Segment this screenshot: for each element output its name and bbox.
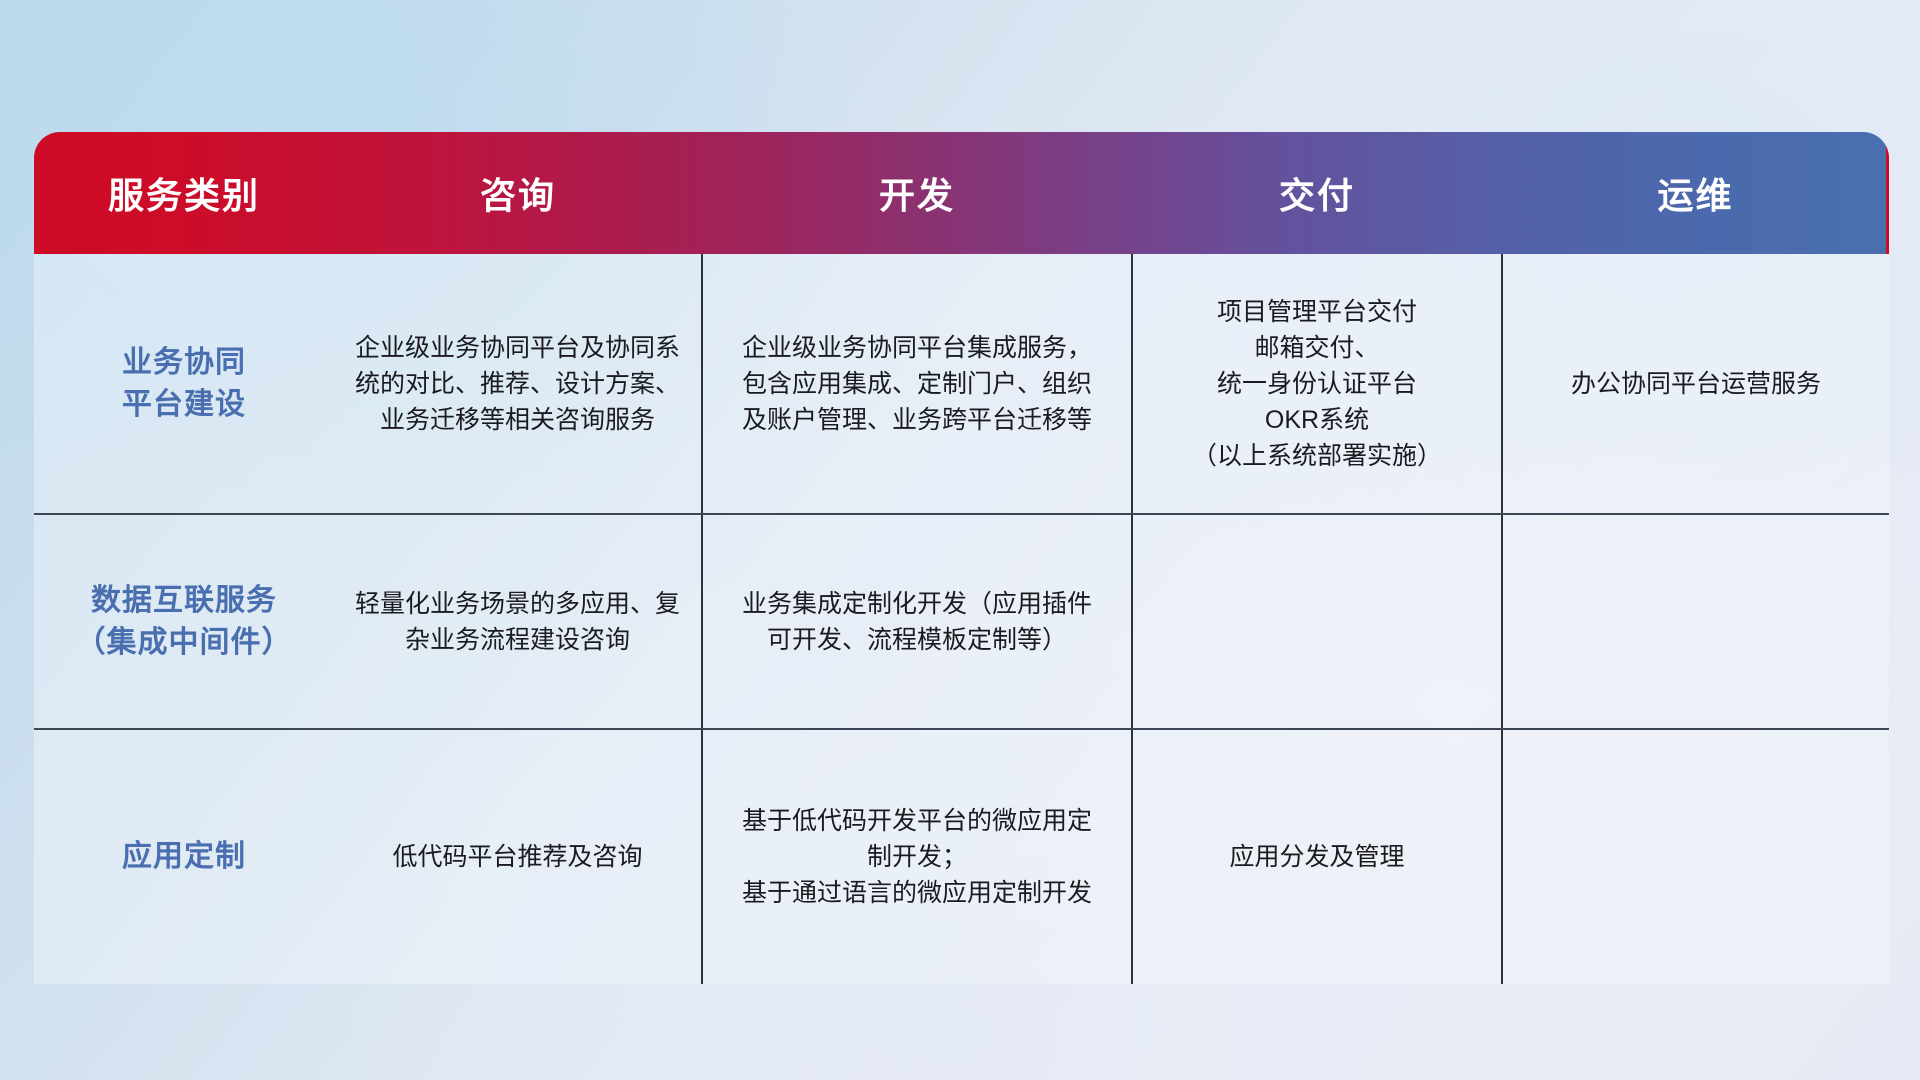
- cell-text: 轻量化业务场景的多应用、复 杂业务流程建设咨询: [350, 586, 685, 658]
- row-label-cell: 业务协同 平台建设: [34, 254, 334, 514]
- table-header: 服务类别 咨询 开发 交付 运维: [34, 132, 1889, 254]
- row-label-cell: 数据互联服务 （集成中间件）: [34, 514, 334, 729]
- cell-operations: [1502, 729, 1889, 984]
- cell-text: 应用分发及管理: [1149, 839, 1485, 875]
- cell-text: 企业级业务协同平台及协同系 统的对比、推荐、设计方案、 业务迁移等相关咨询服务: [350, 330, 685, 438]
- cell-development: 基于低代码开发平台的微应用定 制开发； 基于通过语言的微应用定制开发: [702, 729, 1132, 984]
- row-label-text: 应用定制: [50, 836, 318, 877]
- column-header-delivery: 交付: [1132, 132, 1502, 254]
- cell-consulting: 轻量化业务场景的多应用、复 杂业务流程建设咨询: [334, 514, 702, 729]
- row-label-text: 业务协同 平台建设: [50, 342, 318, 425]
- cell-text: 业务集成定制化开发（应用插件 可开发、流程模板定制等）: [719, 586, 1115, 658]
- column-header-category: 服务类别: [34, 132, 334, 254]
- table-row: 业务协同 平台建设 企业级业务协同平台及协同系 统的对比、推荐、设计方案、 业务…: [34, 254, 1889, 514]
- service-matrix-table: 服务类别 咨询 开发 交付 运维 业务协同 平台建设 企业级业务协同平台及协同系…: [34, 132, 1889, 984]
- row-label-text: 数据互联服务 （集成中间件）: [50, 580, 318, 663]
- table-body: 业务协同 平台建设 企业级业务协同平台及协同系 统的对比、推荐、设计方案、 业务…: [34, 254, 1889, 984]
- table-row: 应用定制 低代码平台推荐及咨询 基于低代码开发平台的微应用定 制开发； 基于通过…: [34, 729, 1889, 984]
- cell-text: 项目管理平台交付 邮箱交付、 统一身份认证平台 OKR系统 （以上系统部署实施）: [1149, 294, 1485, 474]
- cell-text: 基于低代码开发平台的微应用定 制开发； 基于通过语言的微应用定制开发: [719, 803, 1115, 911]
- cell-consulting: 企业级业务协同平台及协同系 统的对比、推荐、设计方案、 业务迁移等相关咨询服务: [334, 254, 702, 514]
- cell-text: 企业级业务协同平台集成服务， 包含应用集成、定制门户、组织 及账户管理、业务跨平…: [719, 330, 1115, 438]
- cell-operations: [1502, 514, 1889, 729]
- table-header-row: 服务类别 咨询 开发 交付 运维: [34, 132, 1889, 254]
- cell-delivery: [1132, 514, 1502, 729]
- cell-text: 低代码平台推荐及咨询: [350, 839, 685, 875]
- column-header-development: 开发: [702, 132, 1132, 254]
- table-row: 数据互联服务 （集成中间件） 轻量化业务场景的多应用、复 杂业务流程建设咨询 业…: [34, 514, 1889, 729]
- cell-delivery: 项目管理平台交付 邮箱交付、 统一身份认证平台 OKR系统 （以上系统部署实施）: [1132, 254, 1502, 514]
- cell-text: 办公协同平台运营服务: [1519, 366, 1873, 402]
- service-matrix-table-wrapper: 服务类别 咨询 开发 交付 运维 业务协同 平台建设 企业级业务协同平台及协同系…: [34, 132, 1889, 984]
- row-label-cell: 应用定制: [34, 729, 334, 984]
- cell-development: 业务集成定制化开发（应用插件 可开发、流程模板定制等）: [702, 514, 1132, 729]
- cell-operations: 办公协同平台运营服务: [1502, 254, 1889, 514]
- cell-development: 企业级业务协同平台集成服务， 包含应用集成、定制门户、组织 及账户管理、业务跨平…: [702, 254, 1132, 514]
- cell-delivery: 应用分发及管理: [1132, 729, 1502, 984]
- cell-consulting: 低代码平台推荐及咨询: [334, 729, 702, 984]
- column-header-consulting: 咨询: [334, 132, 702, 254]
- column-header-operations: 运维: [1502, 132, 1889, 254]
- slide-canvas: 服务类别 咨询 开发 交付 运维 业务协同 平台建设 企业级业务协同平台及协同系…: [0, 0, 1920, 1080]
